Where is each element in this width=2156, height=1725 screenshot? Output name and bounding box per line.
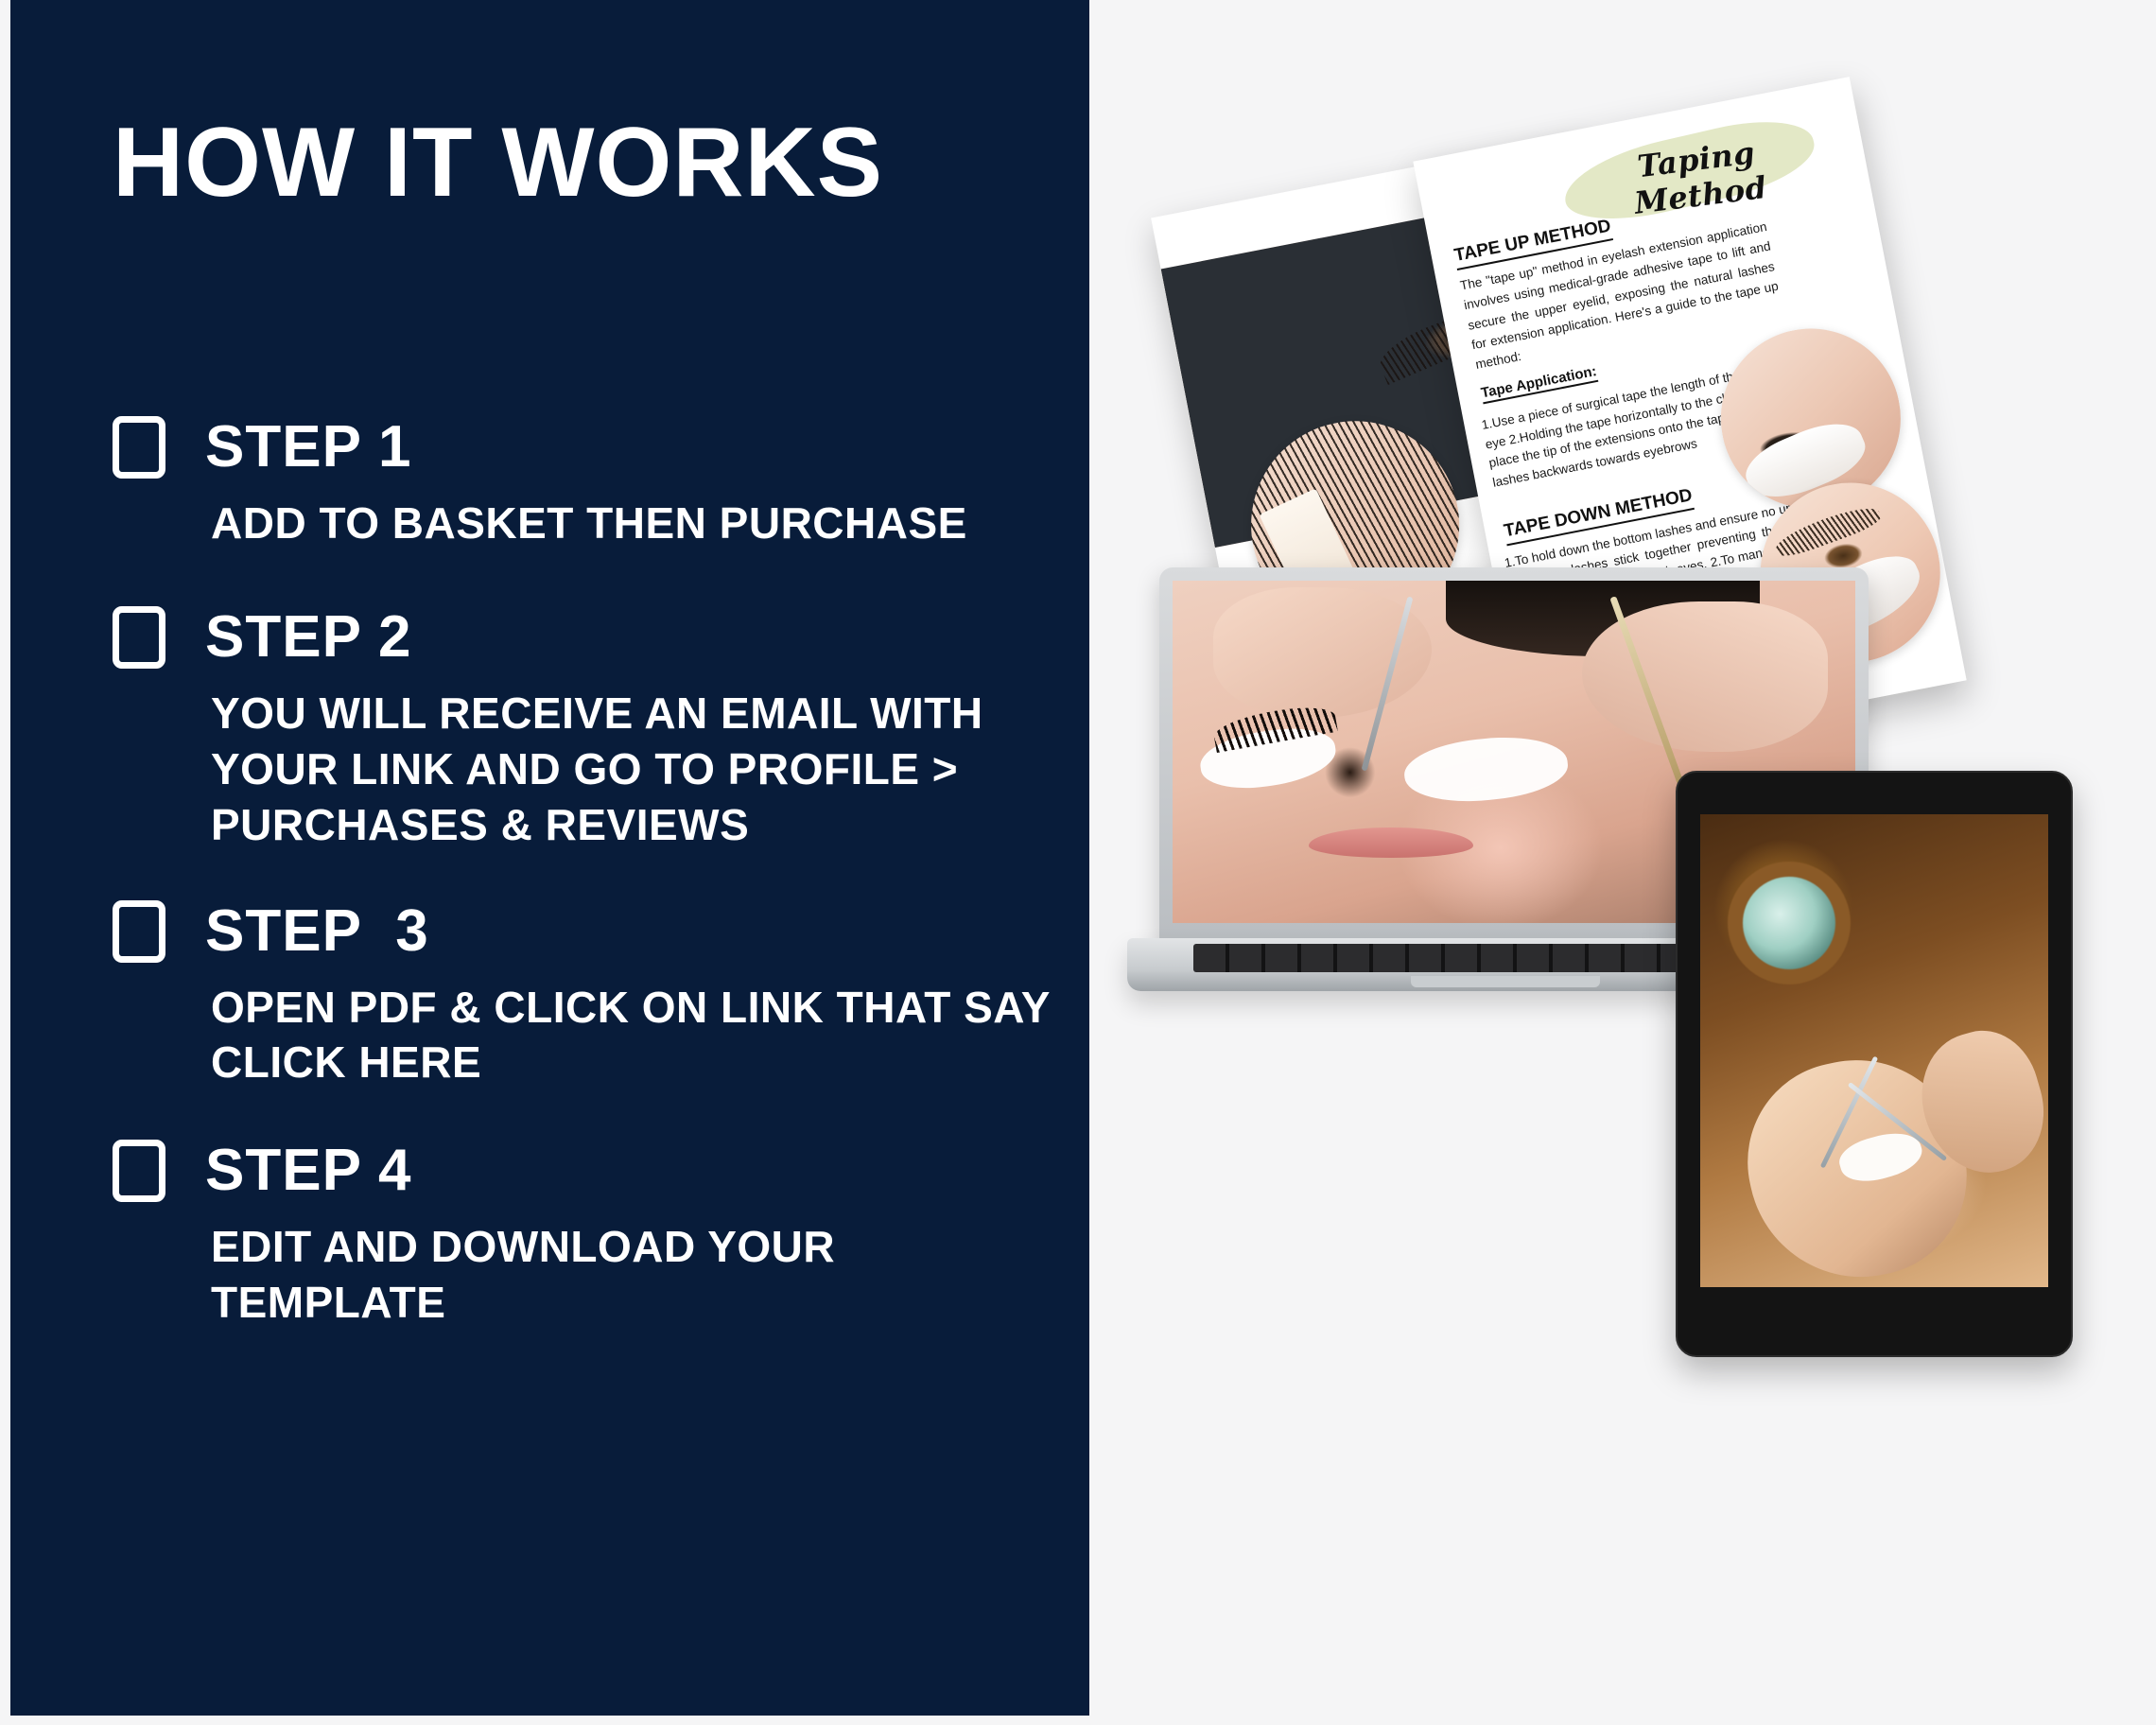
eyebrow-decor-icon [1772, 500, 1884, 561]
steps-list: STEP 1 ADD TO BASKET THEN PURCHASE STEP … [113, 416, 1058, 1359]
salon-treatment-photo [1700, 814, 2048, 1287]
product-mockup-panel: TAPING THE INNER CORNER To begin tapping… [1089, 0, 2156, 1725]
poster-canvas: HOW IT WORKS STEP 1 ADD TO BASKET THEN P… [0, 0, 2156, 1725]
sheet-banner-title: Taping Method [1576, 128, 1819, 228]
checkbox-icon[interactable] [113, 1140, 165, 1202]
tablet-screen [1700, 814, 2048, 1287]
step-label: STEP 3 [205, 902, 429, 961]
step-description: ADD TO BASKET THEN PURCHASE [211, 496, 1058, 551]
step-header: STEP 1 [113, 416, 1058, 479]
how-it-works-panel: HOW IT WORKS STEP 1 ADD TO BASKET THEN P… [10, 0, 1089, 1716]
lips-decor [1309, 828, 1472, 859]
checkbox-icon[interactable] [113, 606, 165, 669]
step-description: EDIT AND DOWNLOAD YOUR TEMPLATE [211, 1219, 1058, 1331]
tablet-mockup [1676, 771, 2073, 1357]
step-item: STEP 2 YOU WILL RECEIVE AN EMAIL WITH YO… [113, 606, 1058, 853]
step-label: STEP 4 [205, 1141, 412, 1200]
step-item: STEP 4 EDIT AND DOWNLOAD YOUR TEMPLATE [113, 1140, 1058, 1331]
step-description: OPEN PDF & CLICK ON LINK THAT SAY CLICK … [211, 980, 1058, 1091]
step-description: YOU WILL RECEIVE AN EMAIL WITH YOUR LINK… [211, 686, 1058, 853]
checkbox-icon[interactable] [113, 416, 165, 479]
step-label: STEP 2 [205, 608, 412, 667]
step-header: STEP 2 [113, 606, 1058, 669]
step-header: STEP 3 [113, 900, 1058, 963]
eye-pad-right [1402, 730, 1572, 809]
laptop-trackpad [1411, 976, 1600, 987]
technician-hand-left [1213, 587, 1432, 718]
step-header: STEP 4 [113, 1140, 1058, 1202]
magnifying-lamp-icon [1728, 862, 1851, 984]
checkbox-icon[interactable] [113, 900, 165, 963]
page-title: HOW IT WORKS [113, 113, 883, 212]
step-item: STEP 1 ADD TO BASKET THEN PURCHASE [113, 416, 1058, 551]
step-item: STEP 3 OPEN PDF & CLICK ON LINK THAT SAY… [113, 900, 1058, 1091]
step-label: STEP 1 [205, 418, 412, 477]
